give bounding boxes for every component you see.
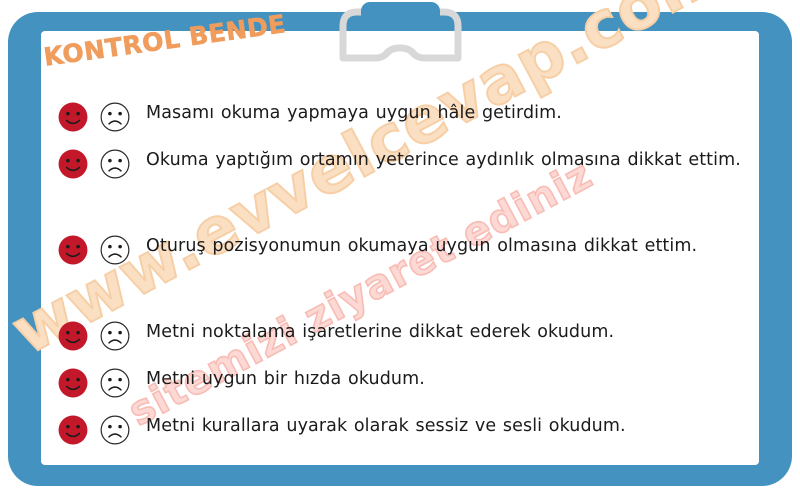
happy-face-icon[interactable] [56,100,90,134]
checklist-row: Masamı okuma yapmaya uygun hâle getirdim… [56,98,756,143]
rating-faces [56,231,132,267]
happy-face-icon[interactable] [56,319,90,353]
checklist: Masamı okuma yapmaya uygun hâle getirdim… [56,98,756,458]
rating-faces [56,98,132,134]
checklist-item-text: Metni noktalama işaretlerine dikkat eder… [146,317,756,362]
sad-face-icon[interactable] [98,100,132,134]
checklist-item-text: Metni uygun bir hızda okudum. [146,364,756,409]
checklist-row: Metni uygun bir hızda okudum. [56,364,756,409]
rating-faces [56,411,132,447]
clipboard-clip [313,0,488,62]
checklist-item-text: Okuma yaptığım ortamın yeterince aydınlı… [146,145,756,229]
rating-faces [56,364,132,400]
happy-face-icon[interactable] [56,413,90,447]
sad-face-icon[interactable] [98,366,132,400]
checklist-item-text: Metni kurallara uyarak olarak sessiz ve … [146,411,756,456]
sad-face-icon[interactable] [98,147,132,181]
happy-face-icon[interactable] [56,233,90,267]
sad-face-icon[interactable] [98,319,132,353]
checklist-row: Metni noktalama işaretlerine dikkat eder… [56,317,756,362]
checklist-row: Okuma yaptığım ortamın yeterince aydınlı… [56,145,756,229]
happy-face-icon[interactable] [56,147,90,181]
checklist-row: Oturuş pozisyonumun okumaya uygun olması… [56,231,756,315]
rating-faces [56,317,132,353]
sad-face-icon[interactable] [98,233,132,267]
sad-face-icon[interactable] [98,413,132,447]
clipboard-clip-icon [313,0,488,62]
rating-faces [56,145,132,181]
worksheet-page: www.evvelcevap.com sitemizi ziyaret edin… [0,0,800,493]
checklist-item-text: Oturuş pozisyonumun okumaya uygun olması… [146,231,756,315]
happy-face-icon[interactable] [56,366,90,400]
checklist-item-text: Masamı okuma yapmaya uygun hâle getirdim… [146,98,756,143]
checklist-row: Metni kurallara uyarak olarak sessiz ve … [56,411,756,456]
